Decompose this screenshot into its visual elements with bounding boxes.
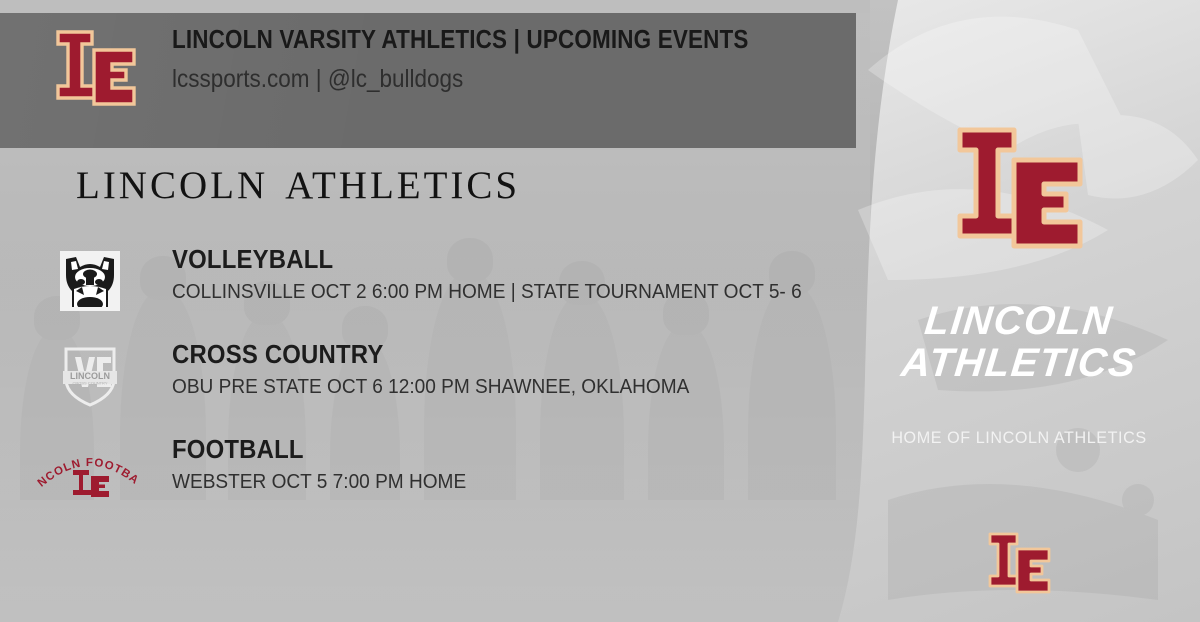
header-text-block: LINCOLN VARSITY ATHLETICS | UPCOMING EVE… xyxy=(172,28,842,92)
brand-name-line-2: ATHLETICS xyxy=(838,342,1200,384)
event-row-volleyball: VOLLEYBALL COLLINSVILLE OCT 2 6:00 PM HO… xyxy=(0,246,856,341)
header-subtitle: lcssports.com | @lc_bulldogs xyxy=(172,67,775,92)
right-panel-brand-name: LINCOLN ATHLETICS xyxy=(838,300,1200,385)
event-body-volleyball: VOLLEYBALL COLLINSVILLE OCT 2 6:00 PM HO… xyxy=(172,246,849,303)
top-strip xyxy=(0,0,870,13)
event-body-football: FOOTBALL WEBSTER OCT 5 7:00 PM HOME xyxy=(172,436,488,493)
header-title: LINCOLN VARSITY ATHLETICS | UPCOMING EVE… xyxy=(172,28,762,54)
svg-text:LINCOLN: LINCOLN xyxy=(70,371,110,381)
brand-name-line-1: LINCOLN xyxy=(838,300,1200,342)
lincoln-football-arc-icon: LINCOLN FOOTBALL xyxy=(40,438,140,504)
event-row-football: LINCOLN FOOTBALL FOOTBALL WEBSTER OCT 5 … xyxy=(0,436,856,531)
right-panel-tagline: HOME OF LINCOLN ATHLETICS xyxy=(847,428,1191,448)
svg-text:LINCOLN FOOTBALL: LINCOLN FOOTBALL xyxy=(35,442,141,490)
page-title: Lincoln Athletics xyxy=(76,152,520,208)
events-list: VOLLEYBALL COLLINSVILLE OCT 2 6:00 PM HO… xyxy=(0,246,856,531)
event-detail: COLLINSVILLE OCT 2 6:00 PM HOME | STATE … xyxy=(172,282,802,303)
event-sport-name: FOOTBALL xyxy=(172,436,463,462)
event-body-cross-country: CROSS COUNTRY OBU PRE STATE OCT 6 12:00 … xyxy=(172,341,728,398)
event-detail: OBU PRE STATE OCT 6 12:00 PM SHAWNEE, OK… xyxy=(172,377,689,398)
bulldog-face-icon xyxy=(40,248,140,314)
event-row-cross-country: LINCOLN CROSS COUNTRY CROSS COUNTRY OBU … xyxy=(0,341,856,436)
lc-monogram-icon xyxy=(983,528,1055,600)
svg-text:CROSS COUNTRY: CROSS COUNTRY xyxy=(72,381,107,386)
right-brand-panel: LINCOLN ATHLETICS HOME OF LINCOLN ATHLET… xyxy=(838,0,1200,622)
event-detail: WEBSTER OCT 5 7:00 PM HOME xyxy=(172,472,466,493)
event-sport-name: CROSS COUNTRY xyxy=(172,341,684,367)
event-sport-name: VOLLEYBALL xyxy=(172,246,795,272)
athletics-events-poster: LINCOLN VARSITY ATHLETICS | UPCOMING EVE… xyxy=(0,0,1200,622)
lc-monogram-icon xyxy=(48,24,144,116)
lincoln-crest-shield-icon: LINCOLN CROSS COUNTRY xyxy=(40,343,140,409)
lc-monogram-icon xyxy=(946,118,1092,268)
